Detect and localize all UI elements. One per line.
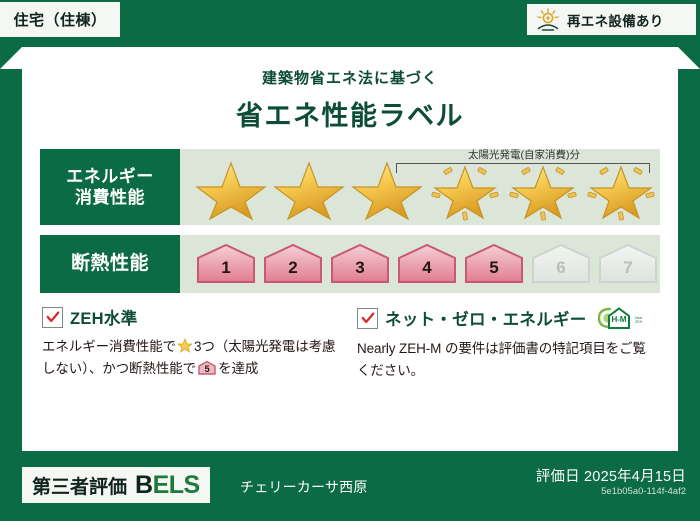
performance-rows: エネルギー 消費性能 太陽光発電(自家消費)分 <box>40 149 660 293</box>
evaluation-date: 評価日 2025年4月15日 <box>536 465 686 486</box>
bels-letters-els: ELS <box>153 471 200 499</box>
building-type-tag-label: 住宅（住棟） <box>13 9 106 30</box>
insulation-level-badge: 3 <box>328 242 392 286</box>
insulation-level-badge: 2 <box>261 242 325 286</box>
insulation-level-number: 4 <box>395 242 459 286</box>
insulation-level-scale: 1 2 3 <box>180 242 660 286</box>
insulation-level-number: 5 <box>462 242 526 286</box>
bels-jp-label: 第三者評価 <box>32 472 127 499</box>
sun-icon <box>535 8 561 32</box>
criteria-zeh-body: エネルギー消費性能で3つ（太陽光発電は考慮しない）、かつ断熱性能で5を達成 <box>42 336 343 380</box>
energy-label-line1: エネルギー <box>66 166 154 187</box>
insulation-level-badge-inactive: 7 <box>596 242 660 286</box>
nearly-zeh-m-logo: H-M Nearly ZEH-M <box>596 305 642 331</box>
energy-performance-body: 太陽光発電(自家消費)分 <box>180 149 660 225</box>
criteria-zeh: ZEH水準 エネルギー消費性能で3つ（太陽光発電は考慮しない）、かつ断熱性能で5… <box>42 305 343 382</box>
check-icon <box>357 308 378 329</box>
insulation-performance-body: 1 2 3 <box>180 235 660 293</box>
criteria-zeh-text-3: を達成 <box>218 361 258 376</box>
check-icon <box>42 307 63 328</box>
criteria-section: ZEH水準 エネルギー消費性能で3つ（太陽光発電は考慮しない）、かつ断熱性能で5… <box>42 305 658 382</box>
insulation-label: 断熱性能 <box>71 252 149 276</box>
energy-performance-label: 住宅（住棟） 再エネ設備あり 建築物省エネ法に基づく 省エネ性能ラベ <box>0 0 700 521</box>
building-type-tag: 住宅（住棟） <box>0 2 120 37</box>
label-footer: 第三者評価 BELS チェリーカーサ西原 評価日 2025年4月15日 5e1b… <box>0 455 700 521</box>
energy-label-line2: 消費性能 <box>75 187 145 208</box>
svg-text:H-M: H-M <box>611 315 626 324</box>
renewable-badge-label: 再エネ設備あり <box>567 10 664 30</box>
star-icon <box>350 157 424 223</box>
insulation-level-badge-achieved: 5 <box>462 242 526 286</box>
renewable-energy-badge: 再エネ設備あり <box>527 4 696 35</box>
label-card: 建築物省エネ法に基づく 省エネ性能ラベル エネルギー 消費性能 太陽光発電(自家… <box>22 47 678 451</box>
star-icon <box>177 338 193 353</box>
insulation-level-number: 2 <box>261 242 325 286</box>
evaluation-id: 5e1b05a0-114f-4af2 <box>601 486 686 497</box>
insulation-level-badge: 1 <box>194 242 258 286</box>
insulation-level-icon: 5 <box>197 360 217 375</box>
insulation-level-icon-number: 5 <box>197 360 217 375</box>
insulation-performance-label-box: 断熱性能 <box>40 235 180 293</box>
star-icon-solar <box>584 157 658 223</box>
energy-performance-label-box: エネルギー 消費性能 <box>40 149 180 225</box>
criteria-zeh-text-1: エネルギー消費性能で <box>42 339 176 354</box>
criteria-net-zero: ネット・ゼロ・エネルギー H-M Nearly ZEH-M Nearly ZEH… <box>357 305 658 382</box>
criteria-net-zero-title: ネット・ゼロ・エネルギー <box>385 306 587 330</box>
insulation-level-number: 7 <box>596 242 660 286</box>
label-subtitle: 建築物省エネ法に基づく <box>22 67 678 88</box>
building-name: チェリーカーサ西原 <box>240 477 368 497</box>
insulation-level-number: 1 <box>194 242 258 286</box>
star-icon-solar <box>428 157 502 223</box>
criteria-net-zero-header: ネット・ゼロ・エネルギー H-M Nearly ZEH-M <box>357 305 658 331</box>
label-title: 省エネ性能ラベル <box>22 94 678 133</box>
bels-badge: 第三者評価 BELS <box>22 467 210 503</box>
star-icon <box>194 157 268 223</box>
criteria-zeh-header: ZEH水準 <box>42 305 343 329</box>
insulation-level-badge: 4 <box>395 242 459 286</box>
bels-en-label: BELS <box>135 471 200 500</box>
star-rating <box>180 157 658 223</box>
criteria-zeh-title: ZEH水準 <box>70 305 138 329</box>
star-icon-solar <box>506 157 580 223</box>
bels-letter-b: B <box>135 471 153 499</box>
insulation-level-badge-inactive: 6 <box>529 242 593 286</box>
insulation-performance-row: 断熱性能 <box>40 235 660 293</box>
star-icon <box>272 157 346 223</box>
insulation-level-number: 3 <box>328 242 392 286</box>
svg-text:ZEH-M: ZEH-M <box>635 320 642 324</box>
insulation-level-number: 6 <box>529 242 593 286</box>
criteria-net-zero-body: Nearly ZEH-M の要件は評価書の特記項目をご覧ください。 <box>357 338 658 382</box>
energy-performance-row: エネルギー 消費性能 太陽光発電(自家消費)分 <box>40 149 660 225</box>
